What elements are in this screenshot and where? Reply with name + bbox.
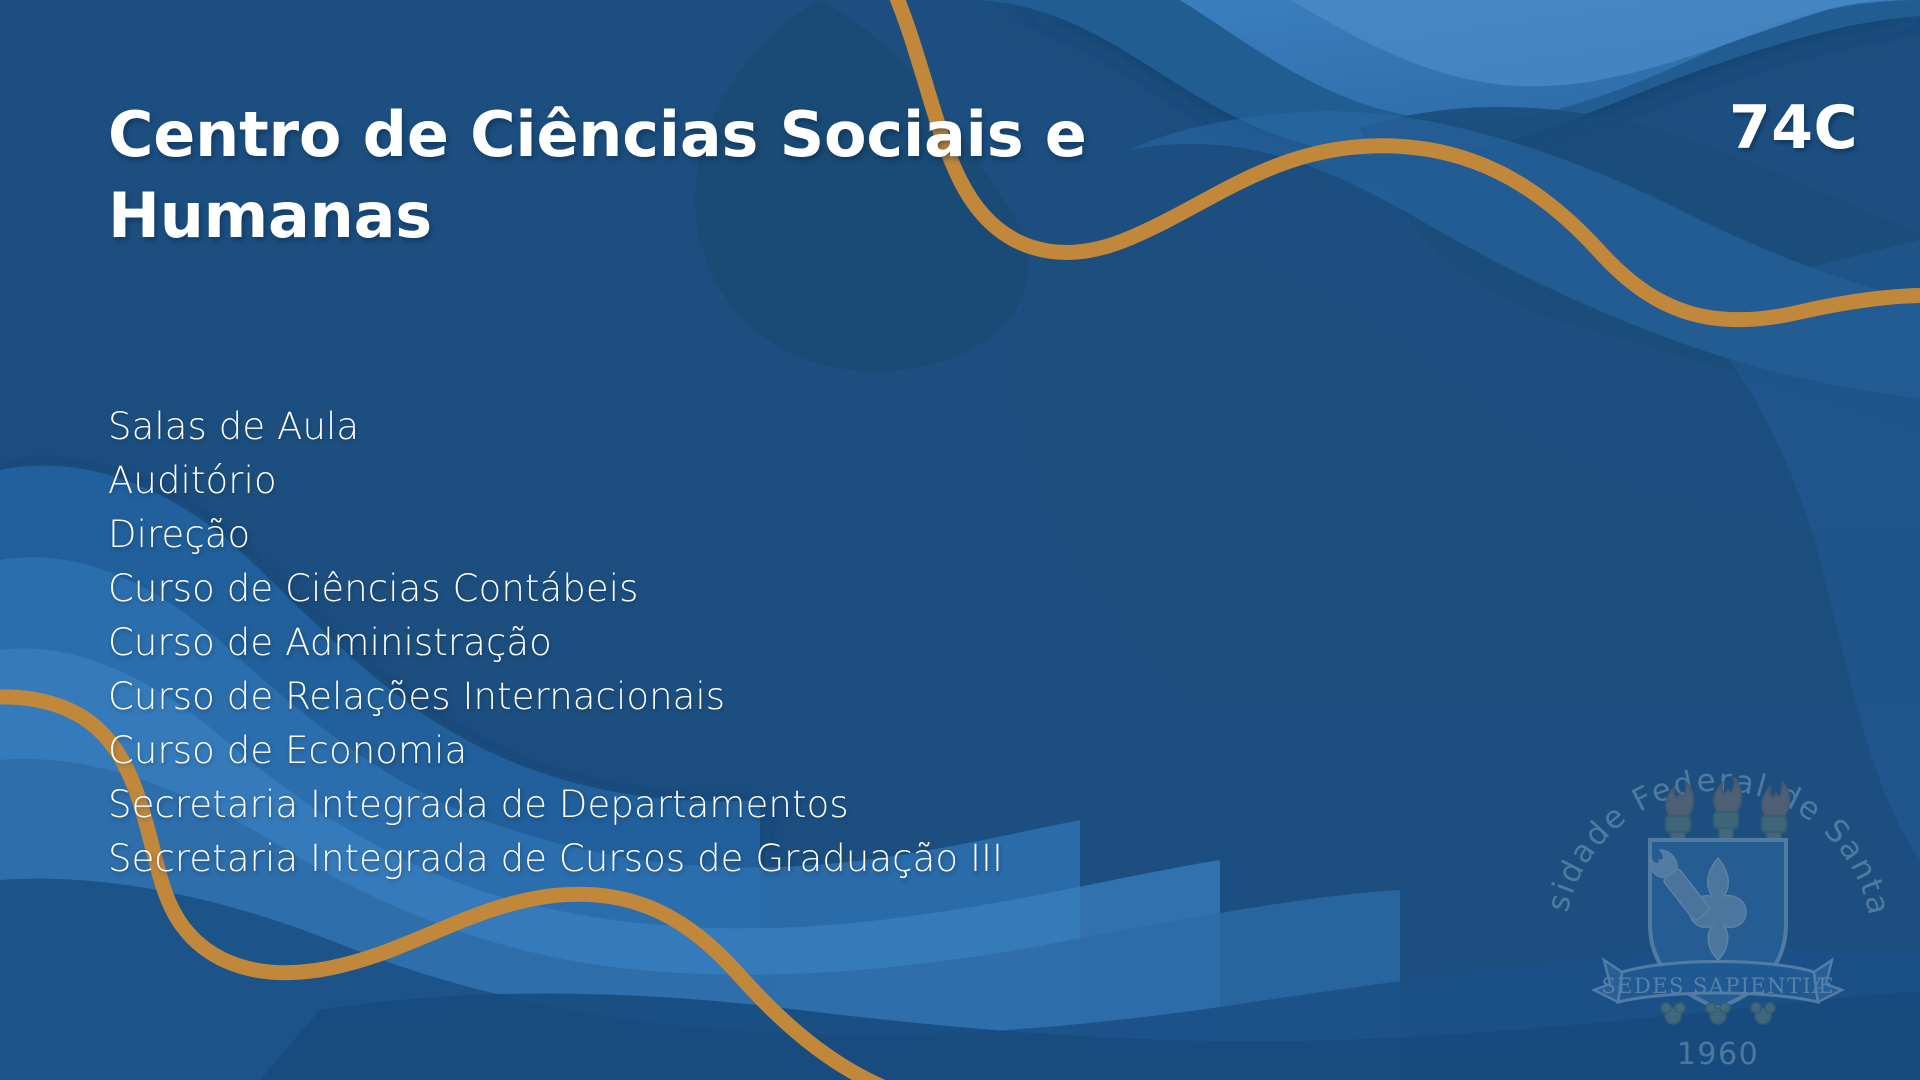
room-list: Salas de Aula Auditório Direção Curso de…: [108, 400, 1348, 886]
signage-slide: Universidade Federal de Santa Maria: [0, 0, 1920, 1080]
list-item: Secretaria Integrada de Departamentos: [108, 778, 1348, 832]
list-item: Curso de Economia: [108, 724, 1348, 778]
room-code-badge: 74C: [1729, 98, 1858, 158]
list-item: Curso de Ciências Contábeis: [108, 562, 1348, 616]
page-title: Centro de Ciências Sociais e Humanas: [108, 95, 1168, 256]
list-item: Curso de Administração: [108, 616, 1348, 670]
list-item: Direção: [108, 508, 1348, 562]
list-item: Curso de Relações Internacionais: [108, 670, 1348, 724]
list-item: Secretaria Integrada de Cursos de Gradua…: [108, 832, 1348, 886]
slide-content: 74C Centro de Ciências Sociais e Humanas…: [0, 0, 1920, 1080]
list-item: Auditório: [108, 454, 1348, 508]
list-item: Salas de Aula: [108, 400, 1348, 454]
